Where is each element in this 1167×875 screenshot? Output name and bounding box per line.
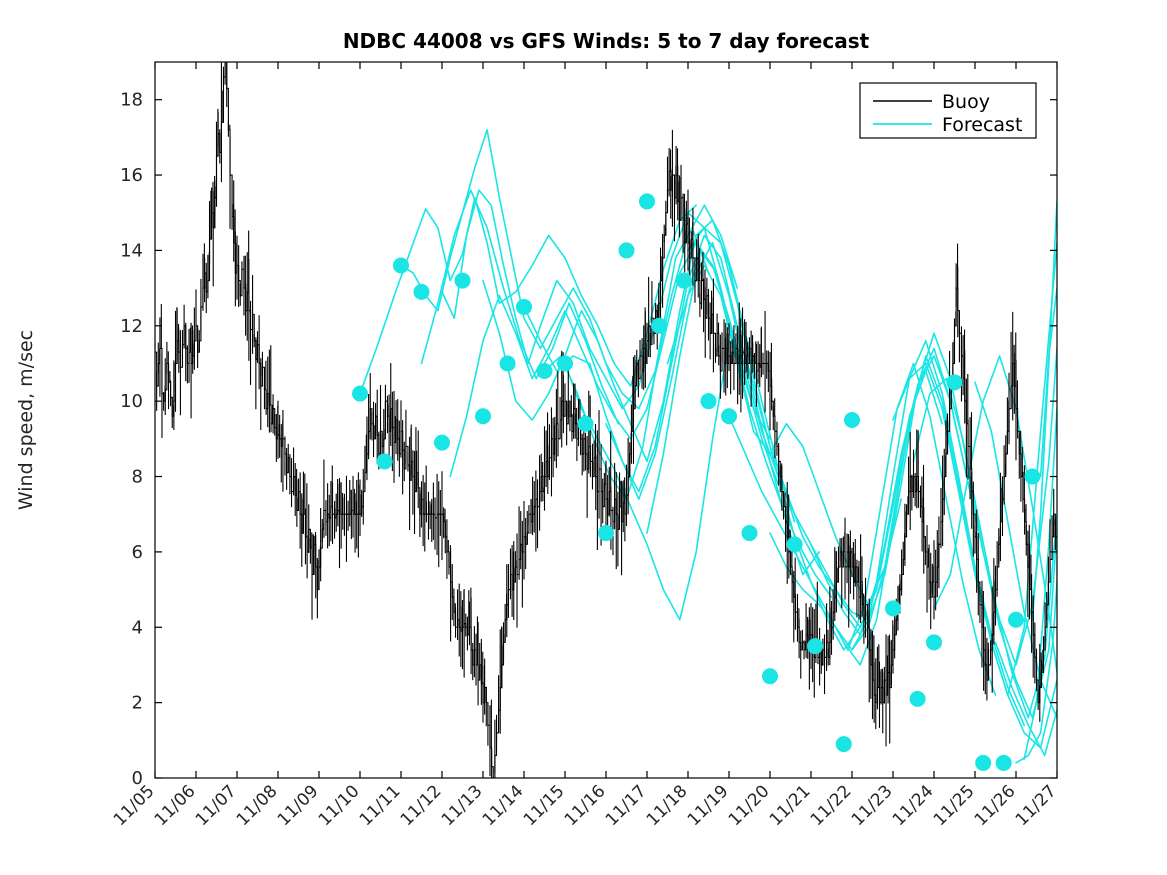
forecast-marker: [676, 273, 692, 289]
y-tick-label: 18: [120, 90, 143, 111]
forecast-marker: [910, 691, 926, 707]
y-tick-label: 14: [120, 240, 143, 261]
y-tick-label: 12: [120, 316, 143, 337]
forecast-marker: [926, 634, 942, 650]
y-axis-label: Wind speed, m/sec: [15, 330, 37, 510]
chart-canvas: NDBC 44008 vs GFS Winds: 5 to 7 day fore…: [0, 0, 1167, 875]
forecast-marker: [1024, 469, 1040, 485]
forecast-marker: [598, 525, 614, 541]
forecast-marker: [578, 416, 594, 432]
y-tick-label: 2: [132, 693, 143, 714]
forecast-marker: [434, 435, 450, 451]
forecast-marker: [377, 453, 393, 469]
forecast-marker: [996, 755, 1012, 771]
forecast-marker: [885, 600, 901, 616]
forecast-marker: [516, 299, 532, 315]
forecast-marker: [701, 393, 717, 409]
forecast-marker: [1008, 612, 1024, 628]
y-tick-label: 6: [132, 542, 143, 563]
y-tick-label: 16: [120, 165, 143, 186]
forecast-marker: [844, 412, 860, 428]
forecast-marker: [414, 284, 430, 300]
legend-label-forecast: Forecast: [942, 114, 1022, 136]
forecast-marker: [742, 525, 758, 541]
forecast-marker: [639, 193, 655, 209]
chart-legend[interactable]: Buoy Forecast: [860, 83, 1036, 138]
forecast-marker: [455, 273, 471, 289]
page-title: NDBC 44008 vs GFS Winds: 5 to 7 day fore…: [343, 29, 870, 53]
forecast-marker: [762, 668, 778, 684]
forecast-marker: [537, 363, 553, 379]
forecast-marker: [475, 408, 491, 424]
forecast-marker: [500, 355, 516, 371]
forecast-marker: [807, 638, 823, 654]
y-tick-label: 4: [132, 617, 143, 638]
forecast-marker: [947, 374, 963, 390]
forecast-marker: [651, 318, 667, 334]
y-tick-label: 10: [120, 391, 143, 412]
chart-figure: NDBC 44008 vs GFS Winds: 5 to 7 day fore…: [0, 0, 1167, 875]
forecast-marker: [619, 242, 635, 258]
forecast-marker: [836, 736, 852, 752]
y-tick-label: 8: [132, 467, 143, 488]
forecast-marker: [787, 536, 803, 552]
forecast-marker: [352, 386, 368, 402]
forecast-marker: [721, 408, 737, 424]
forecast-marker: [975, 755, 991, 771]
forecast-marker: [393, 257, 409, 273]
legend-label-buoy: Buoy: [942, 91, 990, 113]
forecast-marker: [557, 355, 573, 371]
